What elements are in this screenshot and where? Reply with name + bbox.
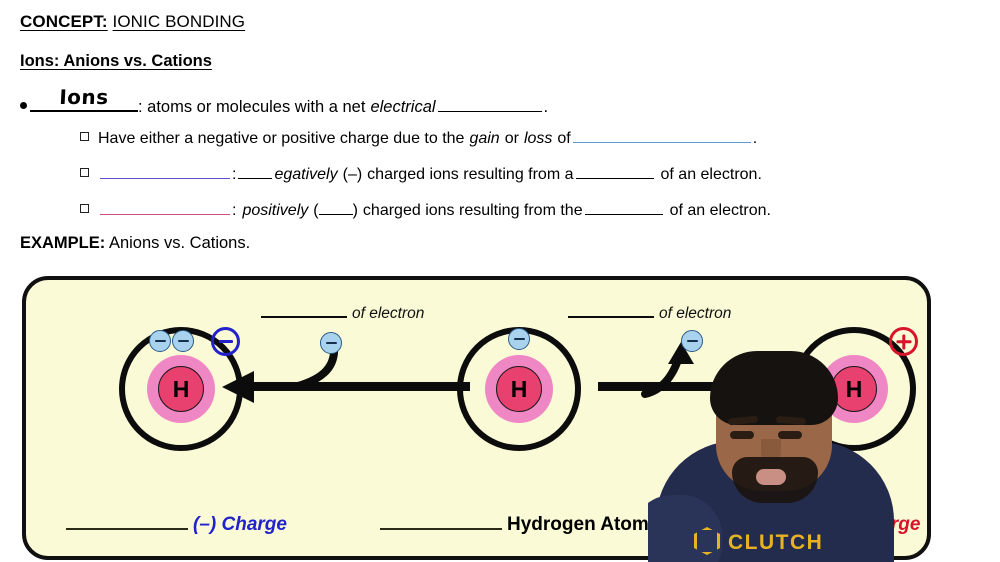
electron-icon: [508, 328, 530, 350]
blank-electrons-1[interactable]: [573, 127, 751, 143]
electron-icon: [149, 330, 171, 352]
nucleus-label: H: [158, 366, 204, 412]
sub-bullet-1-text-1: Have either a negative or positive charg…: [98, 130, 464, 148]
sub-bullet-3-paren-close: ): [353, 202, 358, 220]
sub-bullet-2-anion: : egatively (–) charged ions resulting f…: [80, 163, 762, 184]
sub-bullet-2-italic-egatively: egatively: [274, 166, 337, 184]
blank-cation-label[interactable]: [728, 512, 850, 530]
bullet-ions-definition: Ions : atoms or molecules with a net ele…: [20, 88, 548, 117]
concept-heading: CONCEPT: IONIC BONDING: [20, 12, 245, 32]
nucleus-label: H: [831, 366, 877, 412]
blank-electrical-charge[interactable]: [438, 96, 542, 112]
example-label: EXAMPLE:: [20, 234, 105, 252]
positive-charge-badge-icon: [889, 327, 918, 356]
hydrogen-atom-text: Hydrogen Atom: [507, 514, 649, 536]
blank-anion-term[interactable]: [100, 163, 230, 179]
electron-icon-free-left: [320, 332, 342, 354]
diagram-stage: of electron of electron H H: [26, 280, 927, 556]
sub-bullet-2-colon: :: [232, 166, 236, 184]
sub-bullet-1-italic-loss: loss: [524, 130, 552, 148]
bottom-label-anion: (–) Charge: [64, 512, 287, 536]
sub-bullet-3-italic-positively: positively: [242, 202, 308, 220]
handwritten-answer: Ions: [59, 85, 110, 109]
diagram-label-gain-of-electron: of electron: [259, 302, 424, 323]
sub-bullet-square-icon: [80, 168, 89, 177]
sub-bullet-2-text-1: charged ions resulting from a: [367, 166, 573, 184]
bullet-dot-icon: [20, 102, 27, 109]
blank-anion-process[interactable]: [576, 163, 654, 179]
bullet-text: : atoms or molecules with a net: [138, 98, 365, 117]
concept-label: CONCEPT:: [20, 12, 108, 31]
example-heading: EXAMPLE: Anions vs. Cations.: [20, 234, 250, 253]
sub-bullet-1-mid: or: [505, 130, 519, 148]
notes-area: CONCEPT: IONIC BONDING Ions: Anions vs. …: [0, 0, 1000, 270]
bottom-label-cation: Charge: [726, 512, 920, 536]
diagram-label-loss-of-electron: of electron: [566, 302, 731, 323]
sub-bullet-2-text-2: of an electron.: [661, 166, 762, 184]
blank-loss[interactable]: [568, 302, 654, 318]
blank-cation-term[interactable]: [100, 199, 230, 215]
sub-bullet-square-icon: [80, 204, 89, 213]
sub-bullet-3-cation: : positively ( ) charged ions resulting …: [80, 199, 771, 220]
blank-anion-prefix[interactable]: [238, 163, 272, 179]
of-electron-text-right: of electron: [659, 305, 731, 322]
sub-bullet-1-italic-gain: gain: [469, 130, 499, 148]
bullet-italic-electrical: electrical: [370, 98, 435, 117]
arrow-gain-shaft: [248, 382, 470, 391]
sub-bullet-3-text-1: charged ions resulting from the: [363, 202, 583, 220]
section-subheading: Ions: Anions vs. Cations: [20, 52, 212, 71]
bullet-period: .: [544, 98, 549, 117]
diagram-panel: of electron of electron H H: [22, 276, 931, 560]
of-electron-text-left: of electron: [352, 305, 424, 322]
bottom-label-hydrogen-atom: Hydrogen Atom: [378, 512, 649, 536]
sub-bullet-3-text-2: of an electron.: [670, 202, 771, 220]
concept-value: IONIC BONDING: [113, 12, 246, 31]
arrow-loss-shaft: [598, 382, 802, 391]
sub-bullet-square-icon: [80, 132, 89, 141]
anion-charge-text: (–) Charge: [193, 514, 287, 536]
sub-bullet-2-paren: (–): [343, 166, 363, 184]
negative-charge-badge-icon: [211, 327, 240, 356]
sub-bullet-1: Have either a negative or positive charg…: [80, 127, 757, 148]
blank-cation-process[interactable]: [585, 199, 663, 215]
blank-cation-sign[interactable]: [319, 199, 353, 215]
nucleus-label: H: [496, 366, 542, 412]
blank-ions-answer[interactable]: Ions: [30, 88, 138, 112]
blank-neutral-label[interactable]: [380, 512, 502, 530]
blank-anion-label[interactable]: [66, 512, 188, 530]
electron-icon: [172, 330, 194, 352]
sub-bullet-1-period: .: [753, 130, 757, 148]
sub-bullet-1-text-2: of: [557, 130, 570, 148]
electron-icon-free-right: [681, 330, 703, 352]
cation-charge-text: Charge: [855, 514, 920, 536]
sub-bullet-3-colon: :: [232, 202, 236, 220]
example-value: Anions vs. Cations.: [109, 234, 250, 252]
blank-gain[interactable]: [261, 302, 347, 318]
